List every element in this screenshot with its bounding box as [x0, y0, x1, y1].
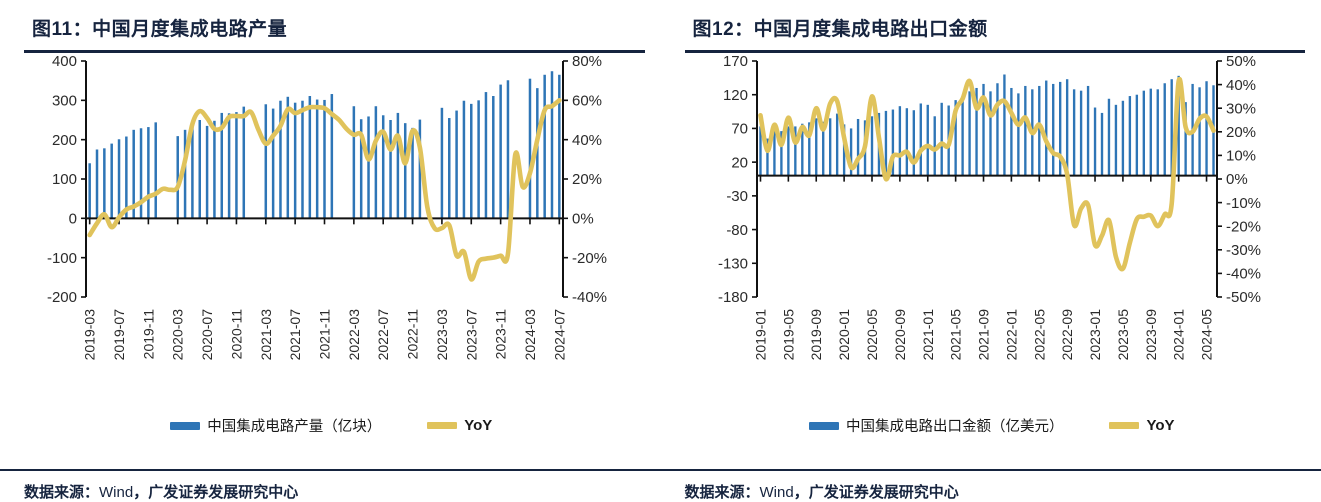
x-axis-tick-label: 2022-01 [1003, 308, 1019, 360]
x-axis-tick-label: 2021-05 [947, 308, 963, 360]
bar [835, 113, 837, 175]
left-axis-tick-label: 0 [69, 210, 77, 227]
bar [912, 110, 914, 175]
figure-11-title: 图11：中国月度集成电路产量 [24, 0, 645, 50]
bar [1017, 93, 1019, 175]
bar [147, 127, 150, 218]
bar [397, 112, 400, 217]
legend-item-line: YoY [1109, 417, 1174, 434]
bar [375, 106, 378, 218]
bar [1093, 107, 1095, 175]
source-tail: ，广发证券发展研究中心 [133, 485, 298, 501]
legend-item-bar: 中国集成电路产量（亿块） [170, 415, 381, 436]
right-axis-tick-label: 60% [572, 92, 602, 109]
bar [367, 116, 370, 218]
bar [272, 108, 275, 218]
x-axis-tick-label: 2020-03 [170, 308, 186, 360]
bar [1135, 94, 1137, 175]
bar [404, 123, 407, 218]
x-axis-tick-label: 2019-11 [140, 308, 156, 359]
bar-series-group [88, 71, 560, 218]
figure-11-separator: ： [73, 19, 93, 40]
bar [301, 100, 304, 218]
figure-11-source-area: 数据来源：Wind，广发证券发展研究中心 [0, 469, 661, 502]
legend-label-bar: 中国集成电路出口金额（亿美元） [846, 415, 1064, 436]
figure-12-legend: 中国集成电路出口金额（亿美元） YoY [679, 405, 1306, 447]
x-axis-tick-label: 2021-01 [919, 308, 935, 360]
right-axis-tick-label: -40% [572, 289, 607, 306]
figure-12-chart-area: 1701207020-30-80-130-18050%40%30%20%10%0… [685, 53, 1306, 405]
bar [507, 80, 510, 218]
bar [389, 120, 392, 218]
figure-panel-11: 图11：中国月度集成电路产量 4003002001000-100-20080%6… [0, 0, 661, 502]
x-axis-tick-label: 2019-01 [752, 308, 768, 360]
bar [1114, 104, 1116, 175]
right-axis-tick-label: 80% [572, 53, 602, 70]
legend-label-line: YoY [1146, 417, 1174, 434]
bar [989, 91, 991, 175]
bar [558, 74, 561, 218]
bar [316, 99, 319, 218]
source-prefix: 数据来源： [685, 485, 760, 501]
bar [919, 103, 921, 175]
figure-12-label-prefix: 图 [693, 19, 713, 40]
bar [448, 118, 451, 218]
bar [492, 96, 495, 218]
x-axis-tick-label: 2022-09 [1059, 308, 1075, 360]
x-axis-tick-label: 2022-07 [375, 308, 391, 360]
left-axis-tick-label: -180 [717, 289, 747, 306]
left-axis-tick-label: 400 [52, 53, 77, 70]
left-axis-tick-label: -130 [717, 255, 747, 272]
bar [940, 102, 942, 175]
x-axis-tick-label: 2020-07 [199, 308, 215, 360]
bar [1149, 88, 1151, 175]
x-axis-tick-label: 2024-07 [551, 308, 567, 360]
bar [1010, 87, 1012, 175]
x-axis-tick-label: 2024-01 [1170, 308, 1186, 360]
x-axis-tick-label: 2020-01 [836, 308, 852, 360]
bar-series-group [759, 74, 1214, 175]
right-axis-tick-label: 40% [572, 131, 602, 148]
figure-11-chart: 4003002001000-100-20080%60%40%20%0%-20%-… [24, 53, 636, 405]
figure-11-label-prefix: 图 [32, 19, 52, 40]
legend-item-line: YoY [427, 417, 492, 434]
left-axis-tick-label: 20 [731, 154, 748, 171]
bar [323, 99, 326, 217]
x-axis-tick-label: 2024-03 [522, 308, 538, 360]
bar [829, 118, 831, 175]
figure-11-number: 11 [52, 19, 73, 40]
figure-12-chart: 1701207020-30-80-130-18050%40%30%20%10%0… [685, 53, 1297, 405]
figure-12-text: 中国月度集成电路出口金额 [754, 19, 988, 40]
bar [787, 126, 789, 175]
bar [1072, 89, 1074, 175]
bar [485, 92, 488, 218]
bar [265, 104, 268, 218]
x-axis-tick-label: 2023-07 [463, 308, 479, 360]
bar [1065, 79, 1067, 175]
right-axis-tick-label: 30% [1226, 100, 1256, 117]
legend-label-line: YoY [464, 417, 492, 434]
bar [154, 122, 157, 218]
bar [441, 107, 444, 218]
bar [870, 116, 872, 175]
bar [1163, 83, 1165, 175]
left-axis-tick-label: 120 [722, 86, 747, 103]
bar [1156, 89, 1158, 175]
bar [1086, 85, 1088, 175]
bar [926, 104, 928, 175]
bar [1205, 81, 1207, 175]
legend-label-bar: 中国集成电路产量（亿块） [207, 415, 381, 436]
bar [243, 106, 246, 218]
bar [118, 139, 121, 218]
x-axis-tick-label: 2021-09 [975, 308, 991, 360]
left-axis-tick-label: 100 [52, 171, 77, 188]
bar [1128, 96, 1130, 176]
right-axis-tick-label: 50% [1226, 53, 1256, 70]
bar [1121, 100, 1123, 175]
x-axis-tick-label: 2021-07 [287, 308, 303, 360]
bar [1079, 90, 1081, 175]
bar [1100, 112, 1102, 175]
bar [463, 100, 466, 218]
x-axis-tick-label: 2019-07 [111, 308, 127, 360]
figure-11-chart-area: 4003002001000-100-20080%60%40%20%0%-20%-… [24, 53, 645, 405]
bar [1052, 83, 1054, 175]
figure-11-text: 中国月度集成电路产量 [92, 19, 287, 40]
source-provider: Wind [99, 484, 133, 501]
right-axis-tick-label: -50% [1226, 289, 1261, 306]
bar [856, 118, 858, 175]
x-axis-tick-label: 2022-11 [405, 308, 421, 359]
source-prefix: 数据来源： [24, 485, 99, 501]
figure-12-source: 数据来源：Wind，广发证券发展研究中心 [661, 471, 1321, 502]
figure-11-legend: 中国集成电路产量（亿块） YoY [18, 405, 645, 447]
bar [1198, 87, 1200, 175]
x-axis-tick-label: 2023-11 [493, 308, 509, 359]
bar [499, 84, 502, 218]
left-axis-tick-label: -100 [47, 249, 77, 266]
right-axis-tick-label: -20% [1226, 218, 1261, 235]
bar [1107, 98, 1109, 175]
x-axis-tick-label: 2023-09 [1142, 308, 1158, 360]
legend-swatch-line [427, 422, 457, 429]
bar [551, 71, 554, 218]
bar [1045, 80, 1047, 175]
right-axis-tick-label: 0% [572, 210, 594, 227]
left-axis-tick-label: -80 [726, 221, 748, 238]
figure-11-source: 数据来源：Wind，广发证券发展研究中心 [0, 471, 661, 502]
legend-swatch-bar [170, 422, 200, 430]
figure-12-source-area: 数据来源：Wind，广发证券发展研究中心 [661, 469, 1321, 502]
x-axis-tick-label: 2021-03 [258, 308, 274, 360]
bar [125, 136, 128, 218]
bar [88, 163, 91, 218]
x-axis-tick-label: 2019-09 [808, 308, 824, 360]
bar [1142, 90, 1144, 175]
right-axis-tick-label: -20% [572, 249, 607, 266]
left-axis-tick-label: 170 [722, 53, 747, 70]
x-axis-tick-label: 2022-03 [346, 308, 362, 360]
x-axis-tick-label: 2020-09 [891, 308, 907, 360]
bar [815, 118, 817, 175]
bar [103, 148, 106, 218]
x-axis-tick-label: 2022-05 [1031, 308, 1047, 360]
right-axis-tick-label: 40% [1226, 76, 1256, 93]
x-axis-tick-label: 2019-03 [82, 308, 98, 360]
bar [1003, 74, 1005, 175]
x-axis-tick-label: 2021-11 [317, 308, 333, 359]
bar [933, 116, 935, 175]
legend-swatch-bar [809, 422, 839, 430]
yoy-line [760, 78, 1213, 268]
figures-page: 图11：中国月度集成电路产量 4003002001000-100-20080%6… [0, 0, 1321, 502]
figure-12-separator: ： [734, 19, 754, 40]
figure-12-title: 图12：中国月度集成电路出口金额 [685, 0, 1306, 50]
left-axis-tick-label: -30 [726, 188, 748, 205]
bar [206, 125, 209, 217]
bar [235, 112, 238, 218]
right-axis-tick-label: 0% [1226, 171, 1248, 188]
x-axis-tick-label: 2023-03 [434, 308, 450, 360]
figure-12-number: 12 [712, 19, 734, 40]
bar [543, 74, 546, 218]
bar [191, 127, 194, 218]
x-axis-tick-label: 2019-05 [780, 308, 796, 360]
x-axis-tick-label: 2020-05 [864, 308, 880, 360]
right-axis-tick-label: 20% [572, 171, 602, 188]
figure-panel-12: 图12：中国月度集成电路出口金额 1701207020-30-80-130-18… [661, 0, 1321, 502]
bar [96, 149, 99, 218]
right-axis-tick-label: 10% [1226, 147, 1256, 164]
left-axis-tick-label: -200 [47, 289, 77, 306]
x-axis-tick-label: 2023-05 [1114, 308, 1130, 360]
bar [898, 106, 900, 175]
left-axis-tick-label: 200 [52, 131, 77, 148]
source-provider: Wind [760, 484, 794, 501]
x-axis-tick-label: 2023-01 [1087, 308, 1103, 360]
bar [905, 108, 907, 175]
bar [455, 110, 458, 218]
bar [309, 96, 312, 218]
legend-item-bar: 中国集成电路出口金额（亿美元） [809, 415, 1064, 436]
bar [996, 83, 998, 175]
right-axis-tick-label: -40% [1226, 265, 1261, 282]
x-axis-tick-label: 2024-05 [1198, 308, 1214, 360]
bar [184, 129, 187, 218]
bar [228, 113, 231, 218]
right-axis-tick-label: -10% [1226, 194, 1261, 211]
legend-swatch-line [1109, 422, 1139, 429]
bar [968, 91, 970, 175]
bar [213, 120, 216, 218]
bar [529, 78, 532, 218]
bar [477, 100, 480, 218]
bar [199, 120, 202, 218]
bar [470, 103, 473, 217]
bar [1024, 85, 1026, 175]
source-tail: ，广发证券发展研究中心 [794, 485, 959, 501]
bar [294, 102, 297, 218]
right-axis-tick-label: 20% [1226, 124, 1256, 141]
right-axis-tick-label: -30% [1226, 242, 1261, 259]
left-axis-tick-label: 300 [52, 92, 77, 109]
x-axis-tick-label: 2020-11 [228, 308, 244, 359]
bar [110, 143, 113, 218]
bar [353, 106, 356, 218]
bar [961, 96, 963, 176]
left-axis-tick-label: 70 [731, 120, 748, 137]
